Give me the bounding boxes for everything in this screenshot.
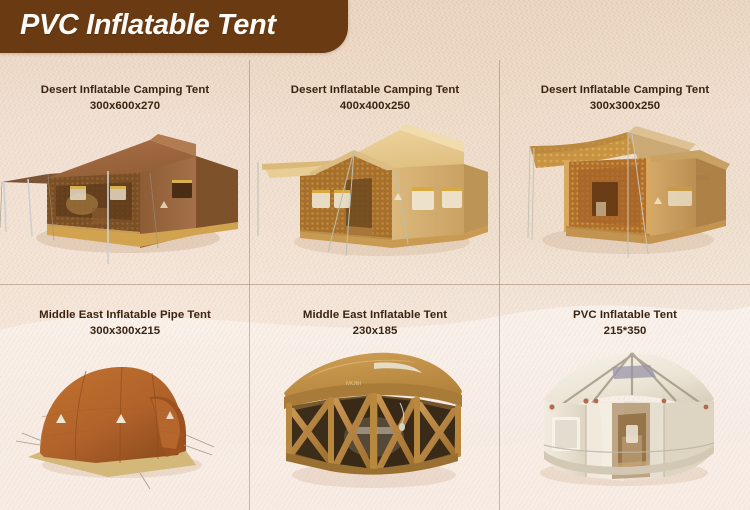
product-card-6[interactable]: PVC Inflatable Tent 215*350 [500,285,750,510]
product-card-1[interactable]: Desert Inflatable Camping Tent 300x600x2… [0,60,250,285]
product-catalog-page: PVC Inflatable Tent Desert Inflatable Ca… [0,0,750,510]
product-name-4: Middle East Inflatable Pipe Tent [0,308,250,324]
svg-text:MXL: MXL [696,175,711,182]
product-caption-3: Desert Inflatable Camping Tent 300x300x2… [500,83,750,114]
product-name-3: Desert Inflatable Camping Tent [500,83,750,99]
product-name-1: Desert Inflatable Camping Tent [0,83,250,99]
product-size-3: 300x300x250 [500,99,750,115]
product-caption-5: Middle East Inflatable Tent 230x185 [250,308,500,339]
product-image-6 [500,341,750,510]
product-name-5: Middle East Inflatable Tent [250,308,500,324]
product-size-4: 300x300x215 [0,324,250,340]
product-grid: Desert Inflatable Camping Tent 300x600x2… [0,60,750,510]
product-image-1 [0,116,250,285]
product-card-2[interactable]: Desert Inflatable Camping Tent 400x400x2… [250,60,500,285]
product-caption-2: Desert Inflatable Camping Tent 400x400x2… [250,83,500,114]
product-image-2 [250,116,500,285]
page-title: PVC Inflatable Tent [20,9,276,42]
product-name-6: PVC Inflatable Tent [500,308,750,324]
product-size-1: 300x600x270 [0,99,250,115]
product-name-2: Desert Inflatable Camping Tent [250,83,500,99]
product-caption-4: Middle East Inflatable Pipe Tent 300x300… [0,308,250,339]
product-image-4 [0,341,250,510]
product-size-6: 215*350 [500,324,750,340]
product-image-5: MOBI [250,341,500,510]
product-caption-6: PVC Inflatable Tent 215*350 [500,308,750,339]
product-size-5: 230x185 [250,324,500,340]
header-banner: PVC Inflatable Tent [0,0,348,53]
product-caption-1: Desert Inflatable Camping Tent 300x600x2… [0,83,250,114]
product-card-4[interactable]: Middle East Inflatable Pipe Tent 300x300… [0,285,250,510]
product-card-5[interactable]: Middle East Inflatable Tent 230x185 [250,285,500,510]
product-image-3: MXL [500,116,750,285]
svg-text:MOBI: MOBI [346,381,362,387]
product-size-2: 400x400x250 [250,99,500,115]
product-card-3[interactable]: Desert Inflatable Camping Tent 300x300x2… [500,60,750,285]
